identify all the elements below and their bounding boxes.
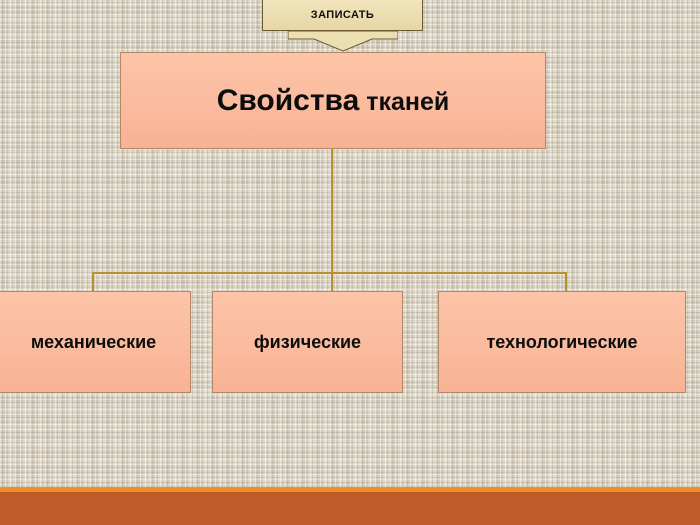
child-node-technological-label: технологические — [486, 332, 637, 353]
connector-stem — [331, 148, 333, 274]
child-node-technological: технологические — [438, 291, 686, 393]
connector-horizontal — [92, 272, 567, 274]
connector-drop-left — [92, 272, 94, 292]
child-node-mechanical-label: механические — [31, 332, 156, 353]
root-node-title: Свойства тканей — [217, 84, 450, 118]
connector-drop-right — [565, 272, 567, 292]
slide-canvas: ЗАПИСАТЬ Свойства тканей механические фи… — [0, 0, 700, 525]
child-node-mechanical: механические — [0, 291, 191, 393]
down-arrow-icon — [288, 30, 398, 53]
connector-drop-middle — [331, 272, 333, 292]
child-node-physical-label: физические — [254, 332, 361, 353]
child-node-physical: физические — [212, 291, 403, 393]
root-node-properties: Свойства тканей — [120, 52, 546, 149]
root-title-main: Свойства — [217, 84, 360, 117]
banner-label: ЗАПИСАТЬ — [311, 9, 374, 21]
zapisat-banner: ЗАПИСАТЬ — [262, 0, 423, 31]
root-title-sub: тканей — [359, 88, 449, 116]
footer-band — [0, 492, 700, 525]
